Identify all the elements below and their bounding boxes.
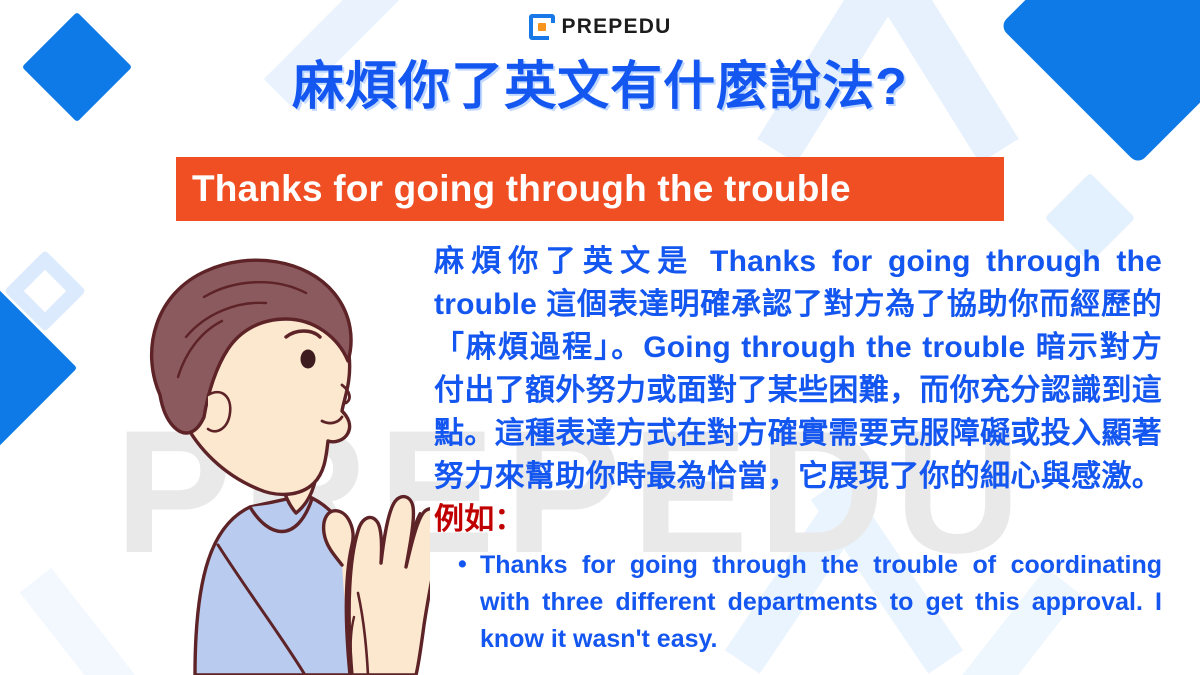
- brand-logo: PREPEDU: [0, 14, 1200, 40]
- explanation-paragraph: 麻煩你了英文是 Thanks for going through the tro…: [434, 240, 1162, 541]
- phrase-banner-text: Thanks for going through the trouble: [192, 168, 851, 210]
- list-item: Thanks for going through the trouble of …: [480, 547, 1162, 658]
- page-title: 麻煩你了英文有什麼說法?: [0, 58, 1200, 118]
- example-list: Thanks for going through the trouble of …: [434, 547, 1162, 658]
- example-label: 例如：: [434, 503, 525, 536]
- prepedu-bracket-icon: [529, 14, 555, 40]
- body-column: 麻煩你了英文是 Thanks for going through the tro…: [434, 240, 1162, 658]
- brand-logo-text: PREPEDU: [562, 15, 672, 39]
- slide-content: PREPEDU 麻煩你了英文有什麼說法? Thanks for going th…: [0, 0, 1200, 675]
- person-praying-thanks-illustration: [100, 245, 430, 675]
- explanation-text: 麻煩你了英文是 Thanks for going through the tro…: [434, 245, 1162, 493]
- phrase-banner: Thanks for going through the trouble: [176, 157, 1004, 221]
